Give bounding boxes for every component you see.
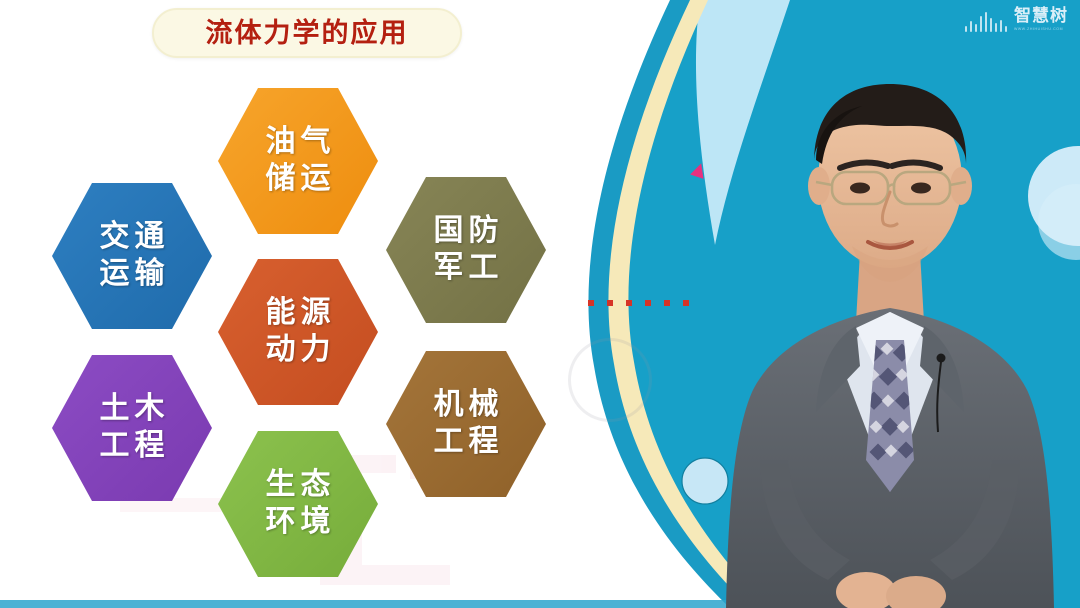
zhihuishu-logo: 智慧树 WWW.ZHIHUISHU.COM <box>965 8 1069 32</box>
brand-name: 智慧树 WWW.ZHIHUISHU.COM <box>1014 8 1068 32</box>
hexagon-label-line1: 交通 <box>95 219 170 256</box>
hexagon-label-line1: 生态 <box>261 467 336 504</box>
dotted-line-decoration <box>588 300 689 306</box>
hexagon-label-line1: 机械 <box>429 387 504 424</box>
hexagon-label-line2: 军工 <box>429 250 504 287</box>
hexagon-label-line1: 土木 <box>95 391 170 428</box>
hexagon-label-line2: 储运 <box>261 161 336 198</box>
page-title: 流体力学的应用 <box>206 20 409 47</box>
hexagon-label-line1: 油气 <box>261 124 336 161</box>
presenter-video-figure <box>700 40 1080 608</box>
hexagon-label-line2: 工程 <box>95 428 170 465</box>
hexagon-label-line2: 动力 <box>261 332 336 369</box>
brand-name-en: WWW.ZHIHUISHU.COM <box>1014 28 1063 32</box>
slide-title-pill: 流体力学的应用 <box>152 8 462 58</box>
hexagon-label-line1: 能源 <box>261 295 336 332</box>
hexagon-label-line1: 国防 <box>429 213 504 250</box>
brand-name-cn: 智慧树 <box>1014 8 1068 25</box>
slide-canvas: 流体力学的应用 交通 运输 油气 储运 国防 军工 能源 动力 土木 工程 机械… <box>0 0 1080 608</box>
decorative-ring <box>568 338 652 422</box>
hexagon-label-line2: 工程 <box>429 424 504 461</box>
hexagon-label-line2: 环境 <box>261 504 336 541</box>
audio-bars-icon <box>965 12 1008 32</box>
hexagon-label-line2: 运输 <box>95 256 170 293</box>
